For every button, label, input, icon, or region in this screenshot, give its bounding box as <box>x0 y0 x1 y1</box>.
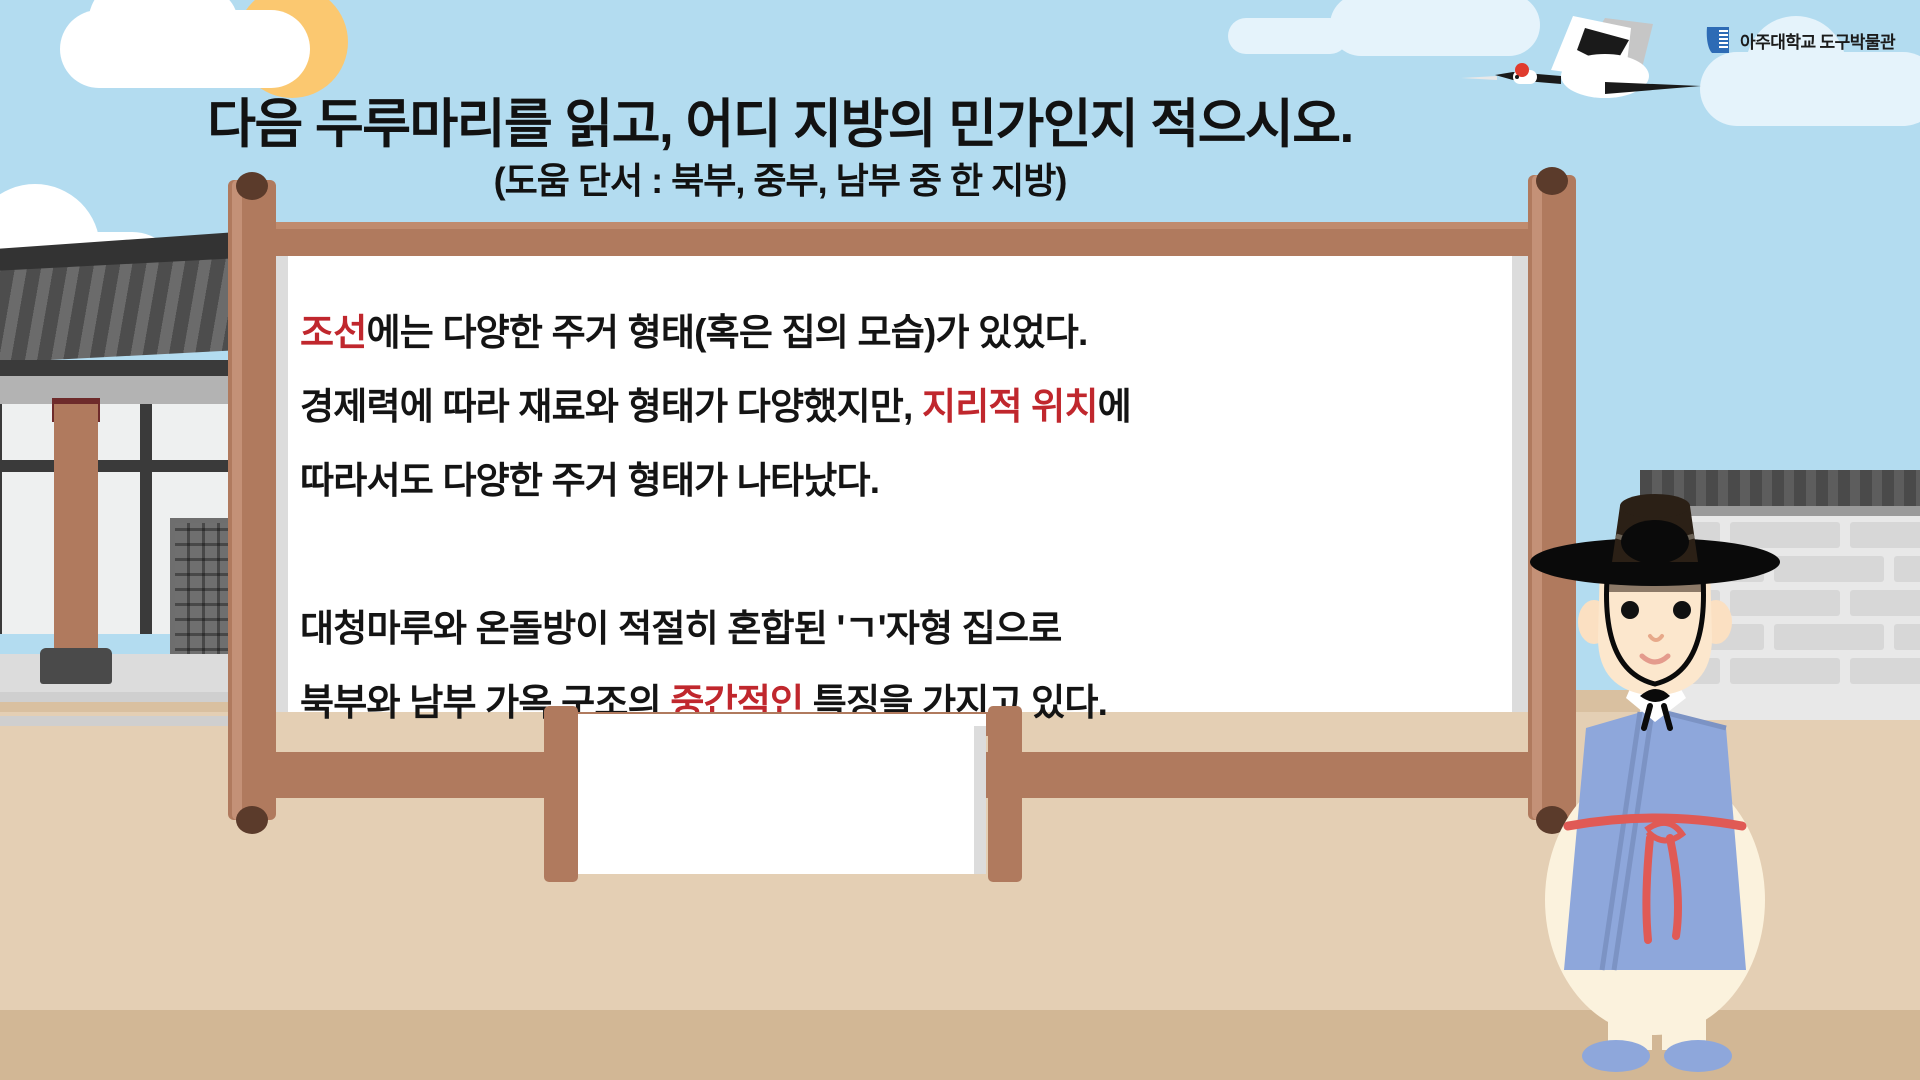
scroll-paragraph-1: 조선에는 다양한 주거 형태(혹은 집의 모습)가 있었다.경제력에 따라 재료… <box>300 296 1500 518</box>
text-segment: 경제력에 따라 재료와 형태가 다양했지만, <box>300 386 922 427</box>
text-segment: 에는 다양한 주거 형태(혹은 집의 모습)가 있었다. <box>366 312 1087 353</box>
cloud-icon <box>1228 18 1348 54</box>
museum-logo: 아주대학교 도구박물관 <box>1705 25 1895 55</box>
slide-canvas: 아주대학교 도구박물관 다음 두루마리를 읽고, 어디 지방의 민가인지 적으시… <box>0 0 1920 1080</box>
answer-roller-right[interactable] <box>988 706 1022 882</box>
cloud-icon <box>1700 52 1920 126</box>
scroll-roller-cap-top-right <box>1536 167 1568 195</box>
scroll-text-line: 경제력에 따라 재료와 형태가 다양했지만, 지리적 위치에 <box>300 370 1500 444</box>
scroll-text-line: 조선에는 다양한 주거 형태(혹은 집의 모습)가 있었다. <box>300 296 1500 370</box>
highlighted-term: 지리적 위치 <box>922 386 1098 427</box>
scroll-roller-cap-bottom-left <box>236 806 268 834</box>
scroll-text-line: 대청마루와 온돌방이 적절히 혼합된 'ㄱ'자형 집으로 <box>300 592 1500 666</box>
scroll-body-text: 조선에는 다양한 주거 형태(혹은 집의 모습)가 있었다.경제력에 따라 재료… <box>300 296 1500 740</box>
text-segment: 대청마루와 온돌방이 적절히 혼합된 'ㄱ'자형 집으로 <box>300 608 1061 649</box>
scroll-text-line: 따라서도 다양한 주거 형태가 나타났다. <box>300 444 1500 518</box>
scroll-roller-cap-top-left <box>236 172 268 200</box>
cloud-icon <box>60 10 310 88</box>
answer-paper-shade-right <box>974 726 986 874</box>
text-segment: 에 <box>1098 386 1131 427</box>
scroll-top-bar <box>256 222 1544 256</box>
scroll-roller-left[interactable] <box>228 180 276 820</box>
museum-logo-text: 아주대학교 도구박물관 <box>1740 28 1895 53</box>
highlighted-term: 조선 <box>300 312 366 353</box>
shield-book-icon <box>1705 25 1731 55</box>
hanbok-scholar-character <box>1490 470 1820 1080</box>
text-segment: 따라서도 다양한 주거 형태가 나타났다. <box>300 460 879 501</box>
paragraph-spacer <box>300 518 1500 592</box>
page-title: 다음 두루마리를 읽고, 어디 지방의 민가인지 적으시오. <box>0 82 1560 158</box>
answer-roller-left[interactable] <box>544 706 578 882</box>
answer-scroll-paper[interactable] <box>566 714 986 874</box>
